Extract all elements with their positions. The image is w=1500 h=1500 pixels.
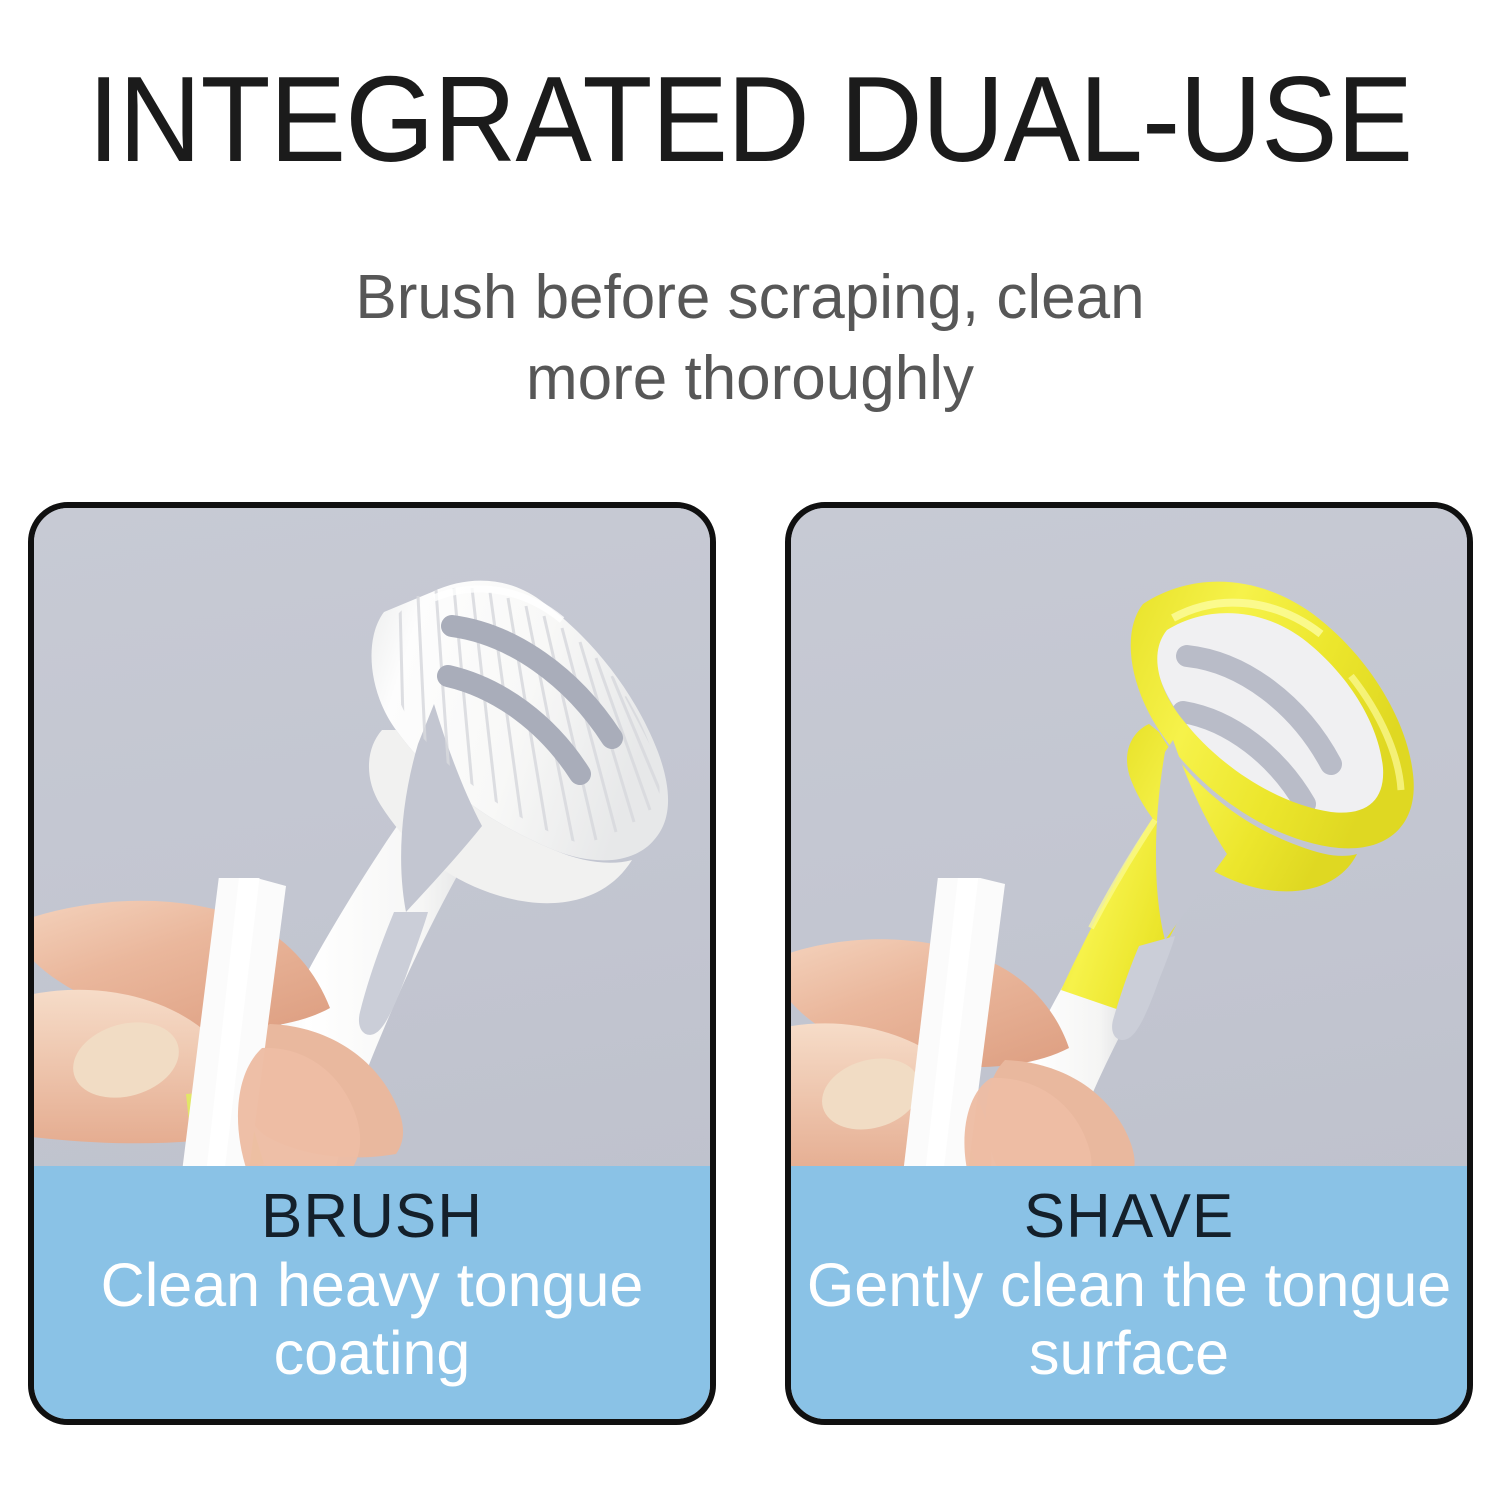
caption-shave-line-1: Gently clean the tongue	[797, 1251, 1461, 1319]
page-subtitle-line-2: more thoroughly	[310, 339, 1190, 420]
caption-body-brush: Clean heavy tongue coating	[34, 1251, 710, 1388]
panel-shave: SHAVE Gently clean the tongue surface	[785, 502, 1473, 1425]
panel-brush: BRUSH Clean heavy tongue coating	[28, 502, 716, 1425]
caption-title-brush: BRUSH	[34, 1184, 710, 1249]
infographic-page: INTEGRATED DUAL-USE Brush before scrapin…	[0, 0, 1500, 1500]
caption-brush-line-2: coating	[40, 1319, 704, 1387]
caption-title-shave: SHAVE	[791, 1184, 1467, 1249]
caption-brush: BRUSH Clean heavy tongue coating	[34, 1166, 710, 1419]
product-photo-brush	[34, 508, 710, 1178]
caption-shave: SHAVE Gently clean the tongue surface	[791, 1166, 1467, 1419]
page-subtitle-line-1: Brush before scraping, clean	[310, 258, 1190, 339]
hand-holding-scraper	[791, 878, 1467, 1178]
caption-shave-line-2: surface	[797, 1319, 1461, 1387]
caption-brush-line-1: Clean heavy tongue	[40, 1251, 704, 1319]
caption-body-shave: Gently clean the tongue surface	[791, 1251, 1467, 1388]
product-photo-shave	[791, 508, 1467, 1178]
page-title: INTEGRATED DUAL-USE	[45, 58, 1455, 180]
page-subtitle: Brush before scraping, clean more thorou…	[310, 258, 1190, 419]
hand-holding-brush	[34, 878, 710, 1178]
